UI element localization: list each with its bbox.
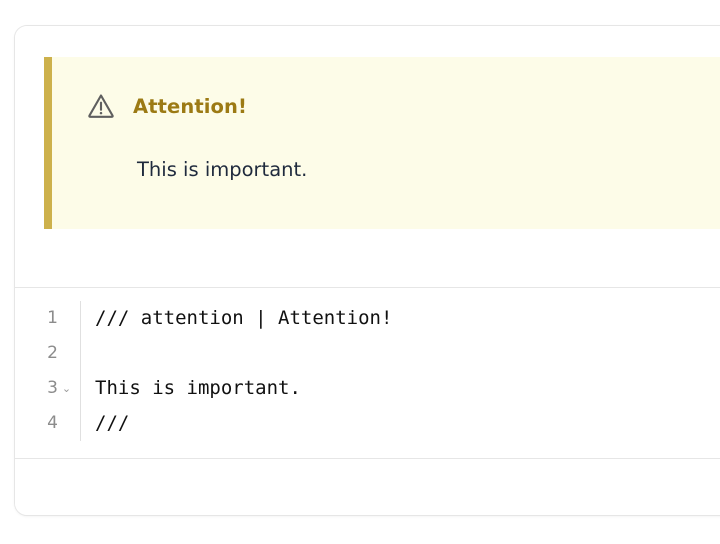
rendered-preview-pane: Attention! This is important. bbox=[15, 26, 720, 288]
line-number-gutter: 1 2 3 ⌄ 4 bbox=[15, 301, 81, 441]
code-fold-toggle[interactable]: ⌄ bbox=[58, 383, 75, 394]
gutter-row: 3 ⌄ bbox=[15, 371, 80, 406]
code-line[interactable] bbox=[95, 336, 720, 371]
admonition-title: Attention! bbox=[133, 95, 247, 118]
line-number: 4 bbox=[46, 406, 58, 441]
admonition-body-text: This is important. bbox=[137, 158, 307, 181]
line-number: 3 bbox=[46, 371, 58, 406]
admonition-title-row: Attention! bbox=[86, 91, 247, 121]
gutter-row: 4 bbox=[15, 406, 80, 441]
warning-triangle-icon bbox=[86, 91, 116, 121]
code-line[interactable]: /// attention | Attention! bbox=[95, 301, 720, 336]
source-code-pane[interactable]: 1 2 3 ⌄ 4 /// attention | Attention! bbox=[15, 288, 720, 459]
code-line[interactable]: /// bbox=[95, 406, 720, 441]
documentation-example-card: Attention! This is important. 1 2 3 ⌄ bbox=[14, 25, 720, 516]
gutter-row: 1 bbox=[15, 301, 80, 336]
gutter-row: 2 bbox=[15, 336, 80, 371]
line-number: 1 bbox=[46, 301, 58, 336]
code-line[interactable]: This is important. bbox=[95, 371, 720, 406]
card-footer bbox=[15, 459, 720, 515]
code-editor[interactable]: 1 2 3 ⌄ 4 /// attention | Attention! bbox=[15, 301, 720, 441]
code-text-area[interactable]: /// attention | Attention! This is impor… bbox=[81, 301, 720, 441]
line-number: 2 bbox=[46, 336, 58, 371]
attention-admonition: Attention! This is important. bbox=[44, 57, 720, 229]
